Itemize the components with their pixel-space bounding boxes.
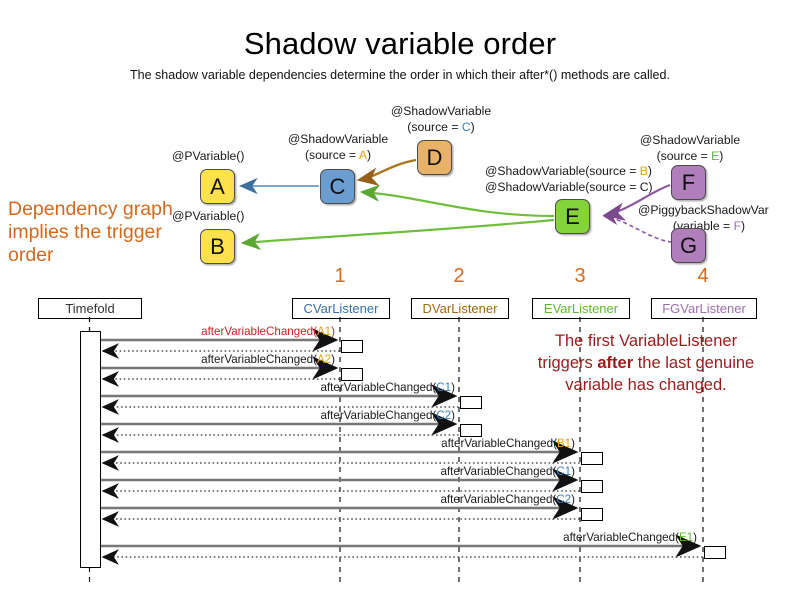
message-arg-7: C2 bbox=[556, 493, 571, 506]
activation-box-2 bbox=[341, 368, 363, 381]
first-listener-note: The first VariableListener triggers afte… bbox=[496, 330, 796, 396]
message-paren-close-8: ) bbox=[693, 531, 697, 544]
sequence-diagram-lines bbox=[0, 0, 800, 600]
first-listener-note-line2: triggers after the last genuine bbox=[496, 352, 796, 374]
message-arrow-3 bbox=[99, 396, 467, 407]
message-paren-close-4: ) bbox=[451, 409, 455, 422]
message-label-4: afterVariableChanged(C2) bbox=[240, 409, 455, 422]
message-method-3: afterVariableChanged bbox=[320, 381, 432, 394]
message-method-6: afterVariableChanged bbox=[440, 465, 552, 478]
message-arg-6: C1 bbox=[556, 465, 571, 478]
diagram-canvas: Shadow variable order The shadow variabl… bbox=[0, 0, 800, 600]
message-method-7: afterVariableChanged bbox=[440, 493, 552, 506]
note-line2-b: after bbox=[597, 354, 633, 372]
message-method-8: afterVariableChanged bbox=[563, 531, 675, 544]
message-label-5: afterVariableChanged(B1) bbox=[360, 437, 575, 450]
message-arrow-5 bbox=[99, 452, 588, 463]
message-arrow-1 bbox=[99, 340, 348, 351]
message-method-5: afterVariableChanged bbox=[441, 437, 553, 450]
activation-box-4 bbox=[460, 424, 482, 437]
message-label-8: afterVariableChanged(E1) bbox=[482, 531, 697, 544]
message-label-1: afterVariableChanged(A1) bbox=[120, 325, 335, 338]
note-line2-c: the last genuine bbox=[633, 354, 754, 372]
message-arg-3: C1 bbox=[436, 381, 451, 394]
message-paren-close-5: ) bbox=[571, 437, 575, 450]
message-method-1: afterVariableChanged bbox=[201, 325, 313, 338]
message-label-6: afterVariableChanged(C1) bbox=[360, 465, 575, 478]
message-arg-1: A1 bbox=[317, 325, 331, 338]
message-arrow-8 bbox=[99, 546, 711, 557]
activation-box-6 bbox=[581, 480, 603, 493]
activation-box-7 bbox=[581, 508, 603, 521]
message-label-7: afterVariableChanged(C2) bbox=[360, 493, 575, 506]
message-label-2: afterVariableChanged(A2) bbox=[120, 353, 335, 366]
message-method-2: afterVariableChanged bbox=[201, 353, 313, 366]
message-arrow-6 bbox=[99, 480, 588, 491]
message-arg-4: C2 bbox=[436, 409, 451, 422]
message-paren-close-6: ) bbox=[571, 465, 575, 478]
message-arrow-2 bbox=[99, 368, 348, 379]
activation-box-1 bbox=[341, 340, 363, 353]
first-listener-note-line1: The first VariableListener bbox=[496, 330, 796, 352]
message-arrow-7 bbox=[99, 508, 588, 519]
message-method-4: afterVariableChanged bbox=[320, 409, 432, 422]
activation-box-5 bbox=[581, 452, 603, 465]
message-paren-close-3: ) bbox=[451, 381, 455, 394]
message-arg-8: E1 bbox=[679, 531, 693, 544]
message-arrow-4 bbox=[99, 424, 467, 435]
message-paren-close-2: ) bbox=[331, 353, 335, 366]
first-listener-note-line3: variable has changed. bbox=[496, 374, 796, 396]
activation-box-8 bbox=[704, 546, 726, 559]
message-arg-2: A2 bbox=[317, 353, 331, 366]
message-paren-close-1: ) bbox=[331, 325, 335, 338]
message-arg-5: B1 bbox=[557, 437, 571, 450]
note-line2-a: triggers bbox=[538, 354, 598, 372]
message-label-3: afterVariableChanged(C1) bbox=[240, 381, 455, 394]
activation-box-3 bbox=[460, 396, 482, 409]
activation-bar-timefold bbox=[80, 331, 101, 568]
message-paren-close-7: ) bbox=[571, 493, 575, 506]
